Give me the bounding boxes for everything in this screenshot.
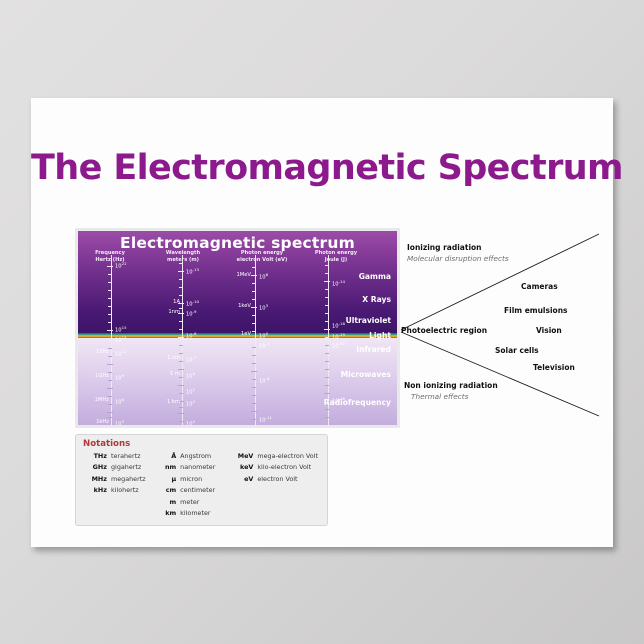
notation-row: cm centimeter [155, 485, 227, 495]
notation-word: kilometer [180, 508, 210, 518]
column-header-photon-energy-joule: Photon energy Joule (J) [300, 250, 372, 265]
wavelength-tick-label: 10-13 [186, 267, 199, 276]
band-label-radiofrequency: Radiofrequency [324, 398, 391, 407]
notation-row: eV electron Volt [227, 474, 320, 484]
photon-energy-ev-axis [255, 255, 256, 425]
notation-row: MHz megahertz [83, 474, 155, 484]
notation-word: kilohertz [111, 485, 139, 495]
wavelength-axis [182, 255, 183, 425]
ionizing-radiation-label: Ionizing radiation [407, 243, 482, 252]
wavelength-tick-label: 10-6 [186, 331, 197, 340]
column-header-photon-energy-ev: Photon energy electron Volt (eV) [226, 250, 298, 265]
band-label-infrared: Infrared [356, 345, 391, 354]
ev-tick-prefix: 1eV [221, 331, 251, 337]
ev-tick-prefix: 1keV [221, 303, 251, 309]
freq-tick-label: 109 [115, 373, 124, 382]
ev-tick-label: 10-1 [259, 341, 270, 350]
freq-tick-label: 1022 [115, 261, 127, 270]
freq-tick-prefix: 1THz [83, 349, 109, 355]
application-solar-cells: Solar cells [495, 346, 539, 355]
notation-word: kilo-electron Volt [257, 462, 311, 472]
band-label-gamma: Gamma [359, 272, 391, 281]
freq-tick-prefix: 1GHz [83, 373, 109, 379]
notation-abbr: km [155, 508, 180, 518]
notation-row: m meter [155, 497, 227, 507]
notation-abbr: µ [155, 474, 180, 484]
notation-abbr: m [155, 497, 180, 507]
notation-abbr: kHz [83, 485, 111, 495]
notation-word: megahertz [111, 474, 146, 484]
notation-row: MeV mega-electron Volt [227, 451, 320, 461]
ionizing-radiation-sublabel: Molecular disruption effects [407, 254, 509, 263]
frequency-axis [111, 255, 112, 425]
notation-abbr: MHz [83, 474, 111, 484]
spectrum-chart: Electromagnetic spectrum Frequency Hertz… [78, 231, 397, 425]
notation-abbr: MeV [227, 451, 257, 461]
notation-word: electron Volt [257, 474, 297, 484]
notation-word: gigahertz [111, 462, 141, 472]
notation-abbr: nm [155, 462, 180, 472]
wavelength-tick-prefix: 1A [152, 299, 180, 305]
wavelength-tick-prefix: 1 km [148, 399, 180, 405]
ev-tick-label: 10-11 [259, 415, 272, 424]
notation-word: terahertz [111, 451, 140, 461]
notation-row: km kilometer [155, 508, 227, 518]
column-header-frequency: Frequency Hertz (Hz) [78, 250, 146, 265]
notation-word: Angstrom [180, 451, 211, 461]
band-label-x-rays: X Rays [362, 295, 391, 304]
poster-sheet: The Electromagnetic Spectrum Electromagn… [31, 98, 613, 547]
notation-row: THz terahertz [83, 451, 155, 461]
notation-word: mega-electron Volt [257, 451, 318, 461]
notation-row: keV kilo-electron Volt [227, 462, 320, 472]
notation-abbr: keV [227, 462, 257, 472]
freq-tick-label: 1012 [115, 349, 127, 358]
joule-tick-label: 10-19 [332, 332, 345, 341]
freq-tick-label: 1015 [115, 325, 127, 334]
notation-word: micron [180, 474, 202, 484]
wavelength-tick-label: 10-9 [186, 309, 197, 318]
wavelength-tick-prefix: 1 cm [148, 355, 180, 361]
freq-tick-label: 1014 [115, 335, 127, 344]
notation-abbr: THz [83, 451, 111, 461]
ev-tick-prefix: 1MeV [221, 272, 251, 278]
notation-word: centimeter [180, 485, 215, 495]
wavelength-tick-prefix: 1 m [148, 371, 180, 377]
application-television: Television [533, 363, 575, 372]
ev-tick-label: 103 [259, 303, 268, 312]
wavelength-tick-label: 103 [186, 399, 195, 408]
ev-tick-label: 100 [259, 331, 268, 340]
freq-tick-prefix: 1MHz [83, 397, 109, 403]
notation-abbr: Å [155, 451, 180, 461]
notation-word: meter [180, 497, 199, 507]
notation-abbr: eV [227, 474, 257, 484]
notations-column-energy: MeV mega-electron Volt keV kilo-electron… [227, 451, 320, 519]
page-title: The Electromagnetic Spectrum [31, 148, 613, 188]
band-label-microwaves: Microwaves [341, 370, 391, 379]
application-vision: Vision [536, 326, 562, 335]
ev-tick-label: 106 [259, 272, 268, 281]
non-ionizing-radiation-label: Non ionizing radiation [404, 381, 498, 390]
band-label-light: Light [369, 331, 391, 340]
freq-tick-label: 106 [115, 397, 124, 406]
notations-box: Notations THz terahertz GHz gigahertz MH… [75, 434, 328, 526]
wavelength-tick-label: 105 [186, 419, 195, 425]
notation-row: kHz kilohertz [83, 485, 155, 495]
notations-column-frequency: THz terahertz GHz gigahertz MHz megahert… [83, 451, 155, 519]
notation-word: nanometer [180, 462, 215, 472]
notation-row: nm nanometer [155, 462, 227, 472]
radiation-effects-diagram: Ionizing radiation Molecular disruption … [399, 226, 604, 421]
joule-tick-label: 10-14 [332, 279, 345, 288]
notation-abbr: cm [155, 485, 180, 495]
column-header-wavelength: Wavelength meters (m) [147, 250, 219, 265]
non-ionizing-radiation-sublabel: Thermal effects [411, 392, 468, 401]
notations-column-length: Å Angstrom nm nanometer µ micron cm cent… [155, 451, 227, 519]
wavelength-tick-label: 102 [186, 387, 195, 396]
electromagnetic-spectrum-figure: Electromagnetic spectrum Frequency Hertz… [75, 228, 400, 428]
notations-title: Notations [83, 439, 320, 449]
wavelength-tick-label: 10-10 [186, 299, 199, 308]
ev-tick-label: 10-6 [259, 376, 270, 385]
joule-tick-label: 10-18 [332, 321, 345, 330]
photoelectric-region-label: Photoelectric region [401, 326, 487, 335]
freq-tick-label: 103 [115, 419, 124, 425]
wavelength-tick-label: 10-2 [186, 355, 197, 364]
notation-row: Å Angstrom [155, 451, 227, 461]
application-cameras: Cameras [521, 282, 558, 291]
wavelength-tick-prefix: 1nm [152, 309, 180, 315]
notation-row: GHz gigahertz [83, 462, 155, 472]
joule-tick-label: 10-20 [332, 341, 345, 350]
freq-tick-prefix: 1kHz [83, 419, 109, 425]
band-label-ultraviolet: Ultraviolet [346, 316, 391, 325]
application-film-emulsions: Film emulsions [504, 306, 568, 315]
notation-row: µ micron [155, 474, 227, 484]
notation-abbr: GHz [83, 462, 111, 472]
wavelength-tick-label: 100 [186, 371, 195, 380]
